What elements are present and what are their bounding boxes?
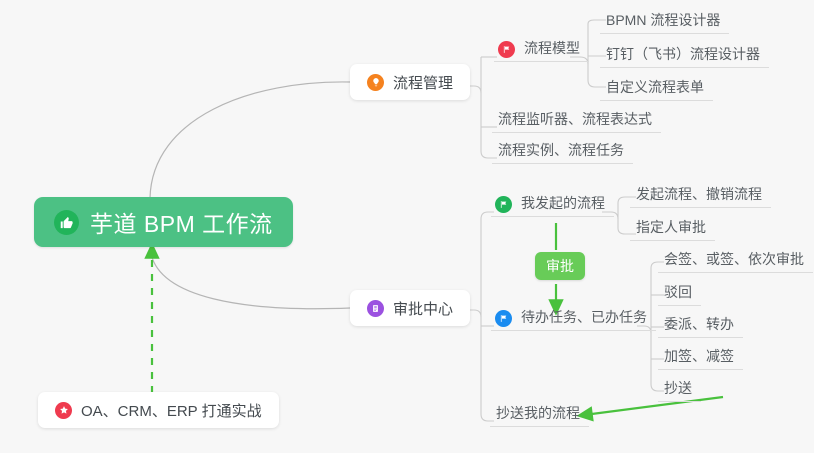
leaf-node-bpmn-designer[interactable]: BPMN 流程设计器 (600, 6, 729, 34)
clipboard-icon (367, 300, 384, 317)
leaf-node-custom-form[interactable]: 自定义流程表单 (600, 73, 713, 101)
root-node-label: 芋道 BPM 工作流 (90, 205, 273, 239)
flag-icon (495, 196, 512, 213)
leaf-node-label: 流程监听器、流程表达式 (498, 109, 652, 129)
approval-flow-badge: 审批 (535, 252, 585, 280)
branch-node-process-management[interactable]: 流程管理 (350, 64, 470, 100)
approval-flow-badge-label: 审批 (546, 256, 574, 276)
leaf-node-process-instance[interactable]: 流程实例、流程任务 (492, 136, 633, 164)
leaf-node-countersign[interactable]: 会签、或签、依次审批 (658, 245, 813, 273)
leaf-node-label: 我发起的流程 (521, 193, 605, 213)
leaf-node-label: 发起流程、撤销流程 (636, 184, 762, 204)
leaf-node-process-listener[interactable]: 流程监听器、流程表达式 (492, 105, 661, 133)
mindmap-canvas: 芋道 BPM 工作流 流程管理 流程模型 BPMN 流程设计器 钉钉（飞书）流程… (0, 0, 814, 453)
leaf-node-label: 指定人审批 (636, 217, 706, 237)
branch-node-approval-center[interactable]: 审批中心 (350, 290, 470, 326)
leaf-node-designated-approval[interactable]: 指定人审批 (630, 213, 715, 241)
root-node[interactable]: 芋道 BPM 工作流 (34, 197, 293, 247)
thumbs-up-icon (54, 210, 79, 235)
leaf-node-label: BPMN 流程设计器 (606, 10, 720, 30)
link-approval-center-child-1 (481, 212, 494, 317)
star-icon (55, 402, 72, 419)
leaf-node-label: 钉钉（飞书）流程设计器 (606, 44, 760, 64)
leaf-node-delegate-transfer[interactable]: 委派、转办 (658, 310, 743, 338)
leaf-node-label: 待办任务、已办任务 (521, 307, 647, 327)
leaf-node-label: 驳回 (664, 282, 692, 302)
branch-node-label: 流程管理 (393, 72, 453, 93)
leaf-node-label: 流程模型 (524, 38, 580, 58)
leaf-node-start-cancel-process[interactable]: 发起流程、撤销流程 (630, 180, 771, 208)
link-root-to-approval-center (150, 246, 350, 309)
bottom-note-label: OA、CRM、ERP 打通实战 (81, 400, 262, 421)
leaf-node-label: 抄送我的流程 (496, 403, 580, 423)
link-root-to-process-mgmt (150, 82, 350, 198)
leaf-node-dingtalk-designer[interactable]: 钉钉（飞书）流程设计器 (600, 40, 769, 68)
branch-node-label: 审批中心 (393, 298, 453, 319)
leaf-node-label: 流程实例、流程任务 (498, 140, 624, 160)
leaf-node-add-remove-sign[interactable]: 加签、减签 (658, 342, 743, 370)
leaf-node-cc[interactable]: 抄送 (658, 374, 701, 402)
lightbulb-icon (367, 74, 384, 91)
leaf-node-reject[interactable]: 驳回 (658, 278, 701, 306)
leaf-node-label: 抄送 (664, 378, 692, 398)
leaf-node-cc-my-process[interactable]: 抄送我的流程 (490, 399, 589, 427)
leaf-node-label: 自定义流程表单 (606, 77, 704, 97)
leaf-node-label: 委派、转办 (664, 314, 734, 334)
leaf-node-my-started-processes[interactable]: 我发起的流程 (491, 189, 614, 217)
leaf-node-process-model[interactable]: 流程模型 (494, 34, 589, 62)
bottom-note-card[interactable]: OA、CRM、ERP 打通实战 (38, 392, 279, 428)
leaf-node-label: 加签、减签 (664, 346, 734, 366)
flag-icon (495, 310, 512, 327)
arrow-cc-to-cc-my-process (584, 397, 723, 415)
flag-icon (498, 41, 515, 58)
leaf-node-todo-done-tasks[interactable]: 待办任务、已办任务 (491, 303, 656, 331)
leaf-node-label: 会签、或签、依次审批 (664, 249, 804, 269)
